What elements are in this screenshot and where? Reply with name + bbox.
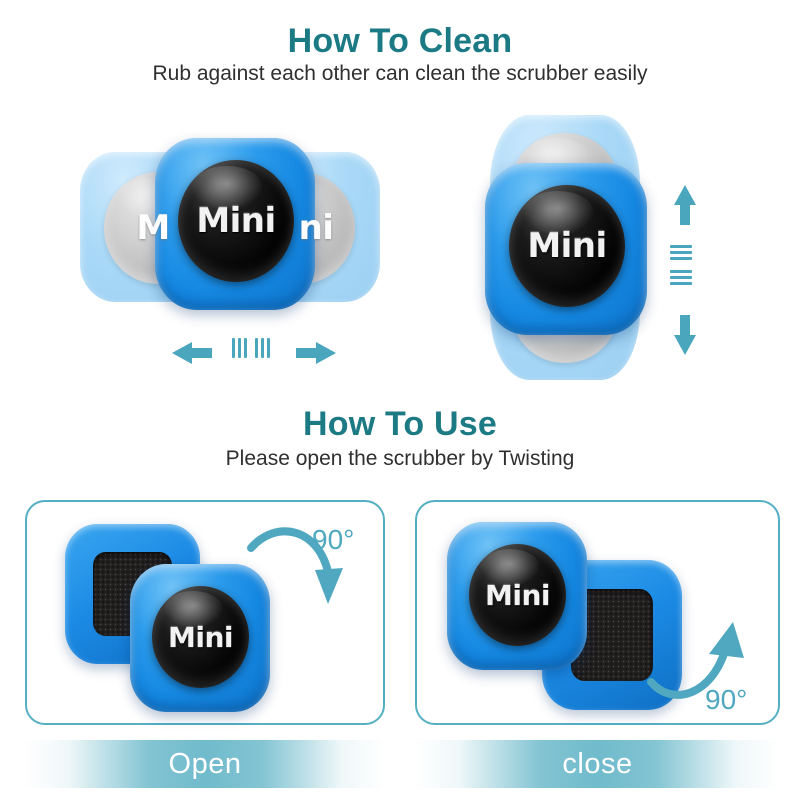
arrow-right [278,340,336,366]
scrubber-label: Mini [196,201,275,241]
ghost-label-right: ni [299,208,334,248]
angle-label-close: 90° [705,684,747,716]
scrubber-dome-vertical: Mini [509,185,625,307]
ghost-label-left: M [136,208,169,248]
vertical-rub-demo: Mini [480,115,730,390]
how-to-clean-subtitle: Rub against each other can clean the scr… [0,62,800,86]
speed-lines-left [232,338,247,358]
how-to-use-title: How To Use [0,405,800,444]
close-caption-text: close [562,748,632,781]
arrow-up [672,185,698,243]
scrubber-dome-open: Mini [152,586,249,688]
open-caption-bar: Open [25,740,385,788]
scrubber-dome-close: Mini [469,544,566,646]
close-caption-bar: close [415,740,780,788]
scrubber-label-open: Mini [168,621,233,654]
how-to-clean-title: How To Clean [0,22,800,61]
how-to-use-subtitle: Please open the scrubber by Twisting [0,447,800,471]
scrubber-dome: Mini [178,160,294,282]
scrubber-cap-close: Mini [447,522,587,670]
arrow-down [672,297,698,355]
close-panel: Mini 90° [415,500,780,725]
open-caption-text: Open [169,748,242,781]
scrubber-cap-front-vertical: Mini [485,163,647,335]
scrubber-label-close: Mini [485,579,550,612]
scrubber-cap-front: Mini [155,138,315,310]
speed-lines-down [670,270,692,285]
horizontal-rub-demo: M ni Mini [80,135,400,380]
speed-lines-right [255,338,270,358]
angle-label-open: 90° [312,524,354,556]
speed-lines-up [670,245,692,260]
scrubber-label-vertical: Mini [527,226,606,266]
open-panel: Mini 90° [25,500,385,725]
arrow-left [172,340,230,366]
